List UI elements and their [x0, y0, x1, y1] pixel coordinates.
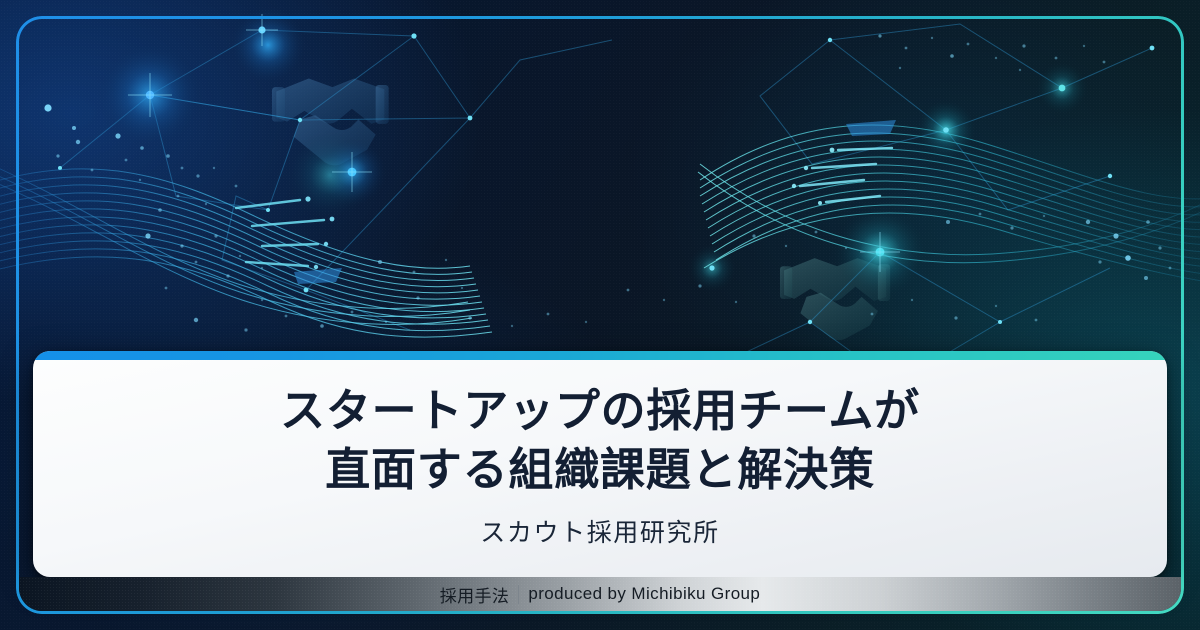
card-accent-bar: [33, 351, 1167, 360]
page-title-line-2: 直面する組織課題と解決策: [325, 441, 875, 500]
page-subtitle: スカウト採用研究所: [480, 513, 719, 549]
page-title-line-1: スタートアップの採用チームが: [280, 382, 920, 441]
slide-canvas: スタートアップの採用チームが 直面する組織課題と解決策 スカウト採用研究所 採用…: [0, 0, 1200, 630]
title-card: スタートアップの採用チームが 直面する組織課題と解決策 スカウト採用研究所: [33, 351, 1167, 577]
card-body: スタートアップの採用チームが 直面する組織課題と解決策 スカウト採用研究所: [33, 360, 1167, 577]
